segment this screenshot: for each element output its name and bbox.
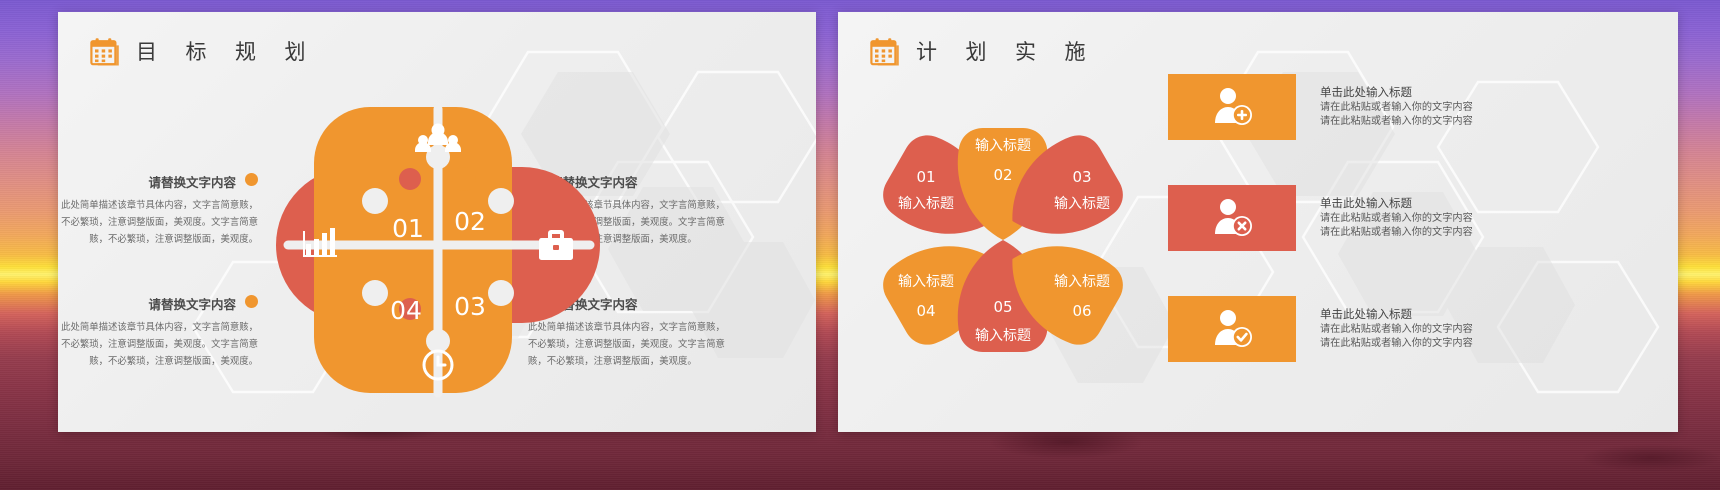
calendar-icon [870,37,900,66]
user-remove-tile[interactable] [1168,185,1296,251]
calendar-icon [90,37,120,66]
slide2-title-text: 计 划 实 施 [916,36,1096,66]
card-line2: 请在此粘贴或者输入你的文字内容 [1320,323,1473,337]
card-title: 单击此处输入标题 [1320,195,1473,211]
user-add-tile[interactable] [1168,74,1296,140]
puzzle-diagram[interactable]: 01 02 03 04 [258,97,618,407]
petal-04-number: 04 [916,302,935,320]
slide-goal-planning[interactable]: 目 标 规 划 请替换文字内容 此处简单描述该章节具体内容，文字言简意赅，不必繁… [58,12,816,432]
card-title: 单击此处输入标题 [1320,84,1473,100]
petal-diagram[interactable]: 01 输入标题 输入标题 02 03 输入标题 输入标题 04 05 输入标题 … [848,90,1158,390]
petal-06-number: 06 [1072,302,1091,320]
info-card-3[interactable]: 单击此处输入标题 请在此粘贴或者输入你的文字内容 请在此粘贴或者输入你的文字内容 [1168,296,1473,362]
info-card-2-text: 单击此处输入标题 请在此粘贴或者输入你的文字内容 请在此粘贴或者输入你的文字内容 [1320,195,1473,240]
user-check-tile[interactable] [1168,296,1296,362]
slide2-header: 计 划 实 施 [870,36,1096,66]
card-line3: 请在此粘贴或者输入你的文字内容 [1320,226,1473,240]
presentation-preview: 目 标 规 划 请替换文字内容 此处简单描述该章节具体内容，文字言简意赅，不必繁… [0,0,1720,490]
info-card-1-text: 单击此处输入标题 请在此粘贴或者输入你的文字内容 请在此粘贴或者输入你的文字内容 [1320,84,1473,129]
orange-dot-icon [245,295,258,308]
slide-plan-implementation[interactable]: 计 划 实 施 [838,12,1678,432]
info-card-2[interactable]: 单击此处输入标题 请在此粘贴或者输入你的文字内容 请在此粘贴或者输入你的文字内容 [1168,185,1473,251]
puzzle-number-04: 04 [390,296,422,325]
text-block-body: 此处简单描述该章节具体内容，文字言简意赅，不必繁琐，注意调整版面，美观度。文字言… [58,319,258,370]
card-line3: 请在此粘贴或者输入你的文字内容 [1320,337,1473,351]
info-card-3-text: 单击此处输入标题 请在此粘贴或者输入你的文字内容 请在此粘贴或者输入你的文字内容 [1320,306,1473,351]
petal-02-label: 输入标题 [975,138,1031,154]
user-add-icon [1209,87,1255,127]
user-remove-icon [1209,198,1255,238]
card-title: 单击此处输入标题 [1320,306,1473,322]
petal-04-label: 输入标题 [898,274,954,290]
text-block-left-bottom[interactable]: 请替换文字内容 此处简单描述该章节具体内容，文字言简意赅，不必繁琐，注意调整版面… [58,294,258,370]
petal-03-label: 输入标题 [1054,196,1110,212]
card-line2: 请在此粘贴或者输入你的文字内容 [1320,101,1473,115]
petal-01-number: 01 [916,168,935,186]
petal-06-label: 输入标题 [1054,274,1110,290]
petal-03-number: 03 [1072,168,1091,186]
puzzle-number-03: 03 [454,292,486,321]
text-block-body: 此处简单描述该章节具体内容，文字言简意赅，不必繁琐，注意调整版面，美观度。文字言… [58,197,258,248]
slide1-title-text: 目 标 规 划 [136,36,316,66]
user-check-icon [1209,309,1255,349]
slide1-header: 目 标 规 划 [90,36,316,66]
petal-02-number: 02 [993,166,1012,184]
text-block-heading: 请替换文字内容 [58,172,258,191]
petal-01-label: 输入标题 [898,196,954,212]
petal-05-label: 输入标题 [975,328,1031,344]
info-card-1[interactable]: 单击此处输入标题 请在此粘贴或者输入你的文字内容 请在此粘贴或者输入你的文字内容 [1168,74,1473,140]
puzzle-number-02: 02 [454,207,486,236]
petal-05-number: 05 [993,298,1012,316]
card-line2: 请在此粘贴或者输入你的文字内容 [1320,212,1473,226]
puzzle-number-01: 01 [392,214,424,243]
card-line3: 请在此粘贴或者输入你的文字内容 [1320,115,1473,129]
text-block-left-top[interactable]: 请替换文字内容 此处简单描述该章节具体内容，文字言简意赅，不必繁琐，注意调整版面… [58,172,258,248]
orange-dot-icon [245,173,258,186]
text-block-heading: 请替换文字内容 [58,294,258,313]
